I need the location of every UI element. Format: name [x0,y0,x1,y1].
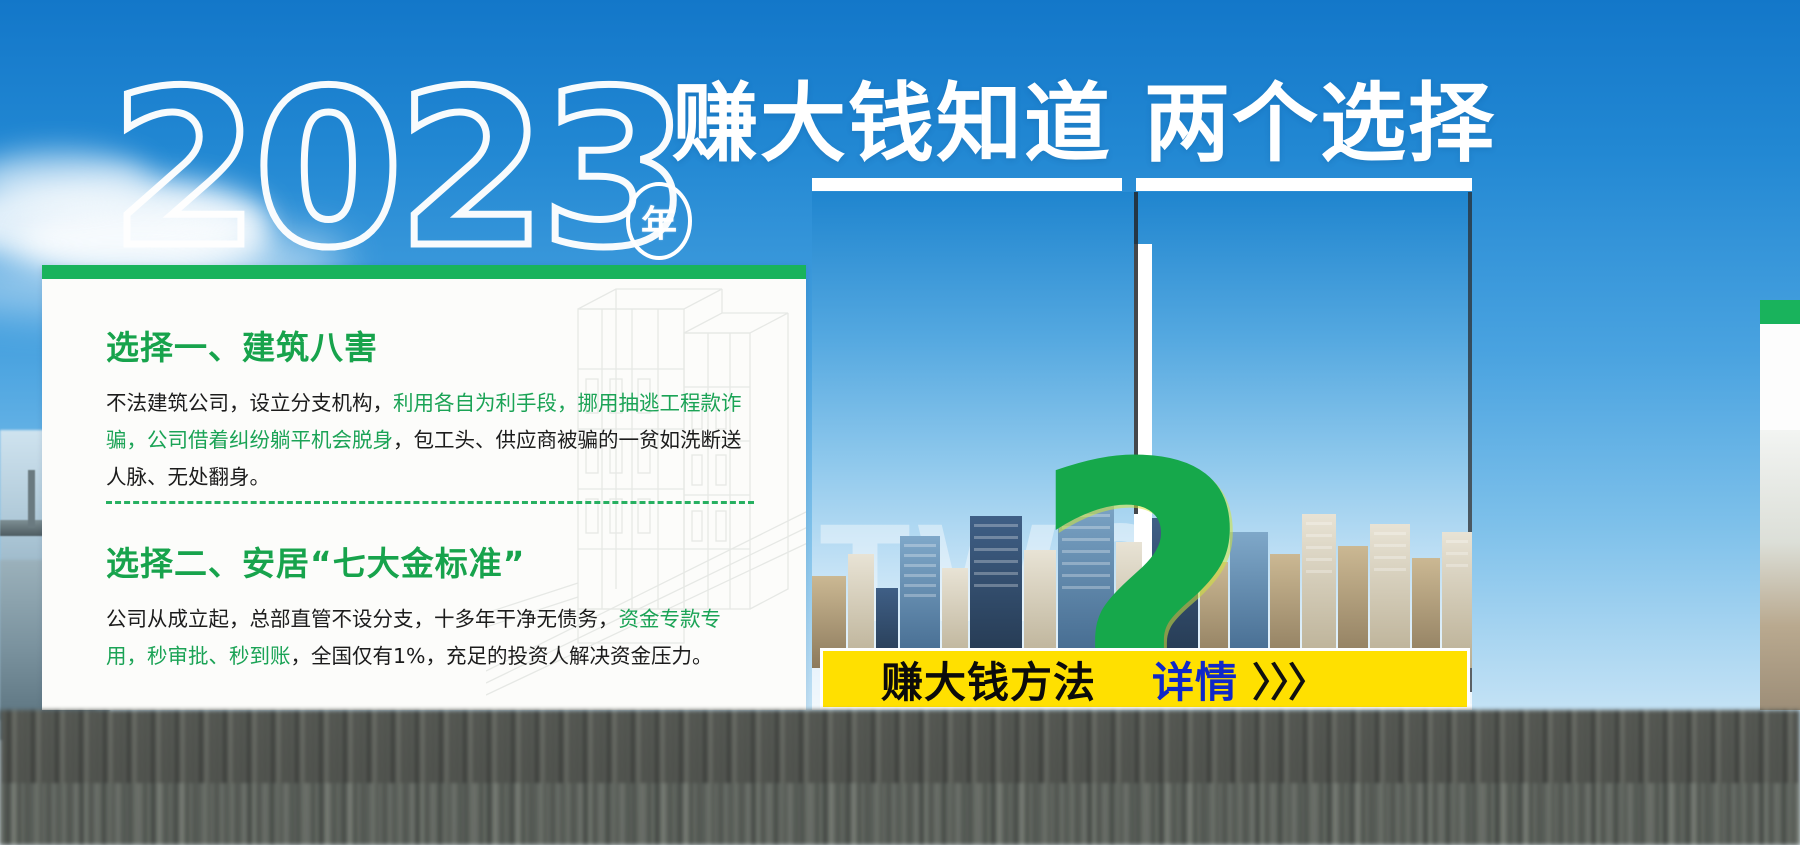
right-green-accent [1760,300,1800,324]
section-choice-two: 选择二、安居“七大金标准” 公司从成立起，总部直管不设分支，十多年干净无债务，资… [106,537,754,675]
year-suffix-badge: 年 [625,182,693,260]
paragraph-run-black: 不法建筑公司，设立分支机构， [106,391,393,415]
right-building-photo [1760,430,1800,710]
cta-bar[interactable]: 赚大钱方法 详情 〉〉〉 [820,648,1470,710]
year-numerals: 2023 [110,62,684,277]
headline-rule-left [812,178,1122,191]
cta-label: 赚大钱方法 [881,649,1096,710]
headline-rule-right [1136,178,1472,191]
page-title: 赚大钱知道 两个选择 [672,78,1496,170]
section-heading: 选择一、建筑八害 [106,321,754,369]
poster-canvas: 2023 年 赚大钱知道 两个选择 TWO CHOICES [0,0,1800,845]
cta-link-label[interactable]: 详情 [1152,649,1238,710]
year-suffix-label: 年 [641,195,677,247]
section-choice-one: 选择一、建筑八害 不法建筑公司，设立分支机构，利用各自为利手段，挪用抽逃工程款诈… [106,321,754,496]
section-heading: 选择二、安居“七大金标准” [106,537,754,585]
paragraph-run-black: 公司从成立起，总部直管不设分支，十多年干净无债务， [106,607,619,631]
card-body: 选择一、建筑八害 不法建筑公司，设立分支机构，利用各自为利手段，挪用抽逃工程款诈… [42,279,806,710]
content-card: 选择一、建筑八害 不法建筑公司，设立分支机构，利用各自为利手段，挪用抽逃工程款诈… [42,265,806,710]
chevron-right-triple-icon: 〉〉〉 [1252,650,1326,708]
paragraph-run-black: ，全国仅有1%，充足的投资人解决资金压力。 [291,644,713,668]
section-paragraph: 不法建筑公司，设立分支机构，利用各自为利手段，挪用抽逃工程款诈骗，公司借着纠纷躺… [106,385,754,496]
card-green-topbar [42,265,806,279]
bridge-post [28,470,35,528]
water-reflection-photo [0,783,1800,845]
choices-panel: TWO CHOICES [812,192,1472,710]
section-divider [106,501,754,504]
section-paragraph: 公司从成立起，总部直管不设分支，十多年干净无债务，资金专款专用，秒审批、秒到账，… [106,601,754,675]
